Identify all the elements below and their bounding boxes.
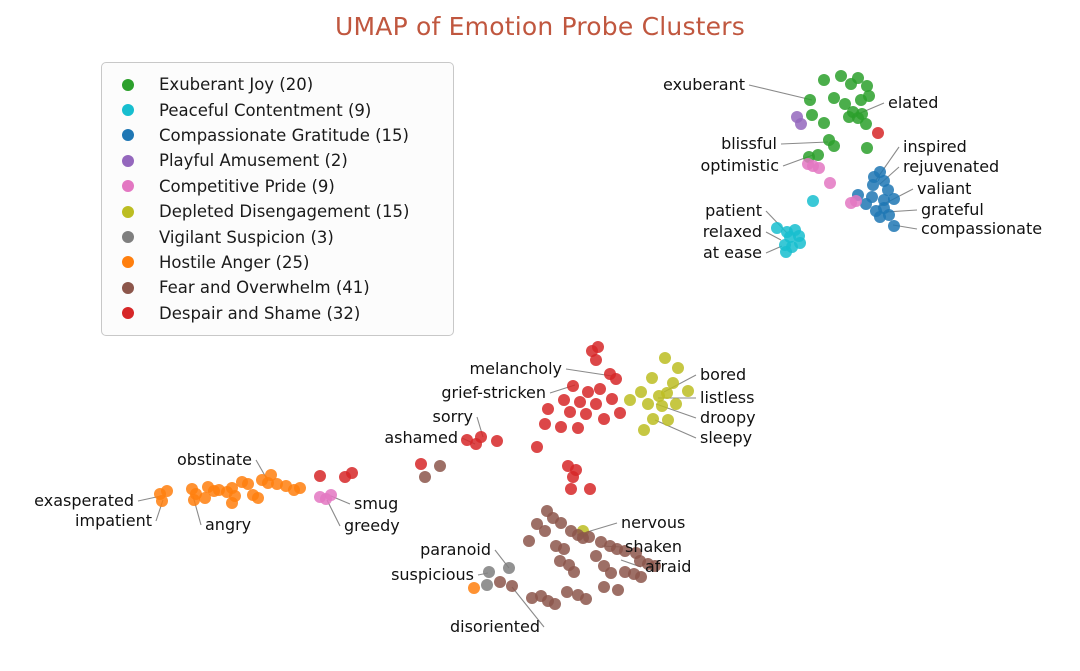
legend-item[interactable]: Compassionate Gratitude (15): [116, 123, 441, 148]
point-annotation-label: exuberant: [663, 77, 745, 93]
scatter-point[interactable]: [567, 380, 579, 392]
scatter-point[interactable]: [419, 471, 431, 483]
scatter-point[interactable]: [346, 467, 358, 479]
scatter-point[interactable]: [812, 149, 824, 161]
scatter-point[interactable]: [558, 394, 570, 406]
legend-swatch-icon: [122, 307, 134, 319]
scatter-point[interactable]: [824, 177, 836, 189]
point-annotation-label: melancholy: [470, 361, 562, 377]
legend-item-label: Despair and Shame (32): [159, 304, 360, 323]
scatter-point[interactable]: [850, 195, 862, 207]
legend-item[interactable]: Fear and Overwhelm (41): [116, 275, 441, 300]
scatter-point[interactable]: [542, 403, 554, 415]
scatter-point[interactable]: [568, 566, 580, 578]
scatter-point[interactable]: [236, 476, 248, 488]
point-annotation-label: compassionate: [921, 221, 1042, 237]
legend-item[interactable]: Peaceful Contentment (9): [116, 97, 441, 122]
scatter-point[interactable]: [795, 118, 807, 130]
scatter-point[interactable]: [807, 195, 819, 207]
scatter-point[interactable]: [590, 354, 602, 366]
scatter-point[interactable]: [804, 94, 816, 106]
scatter-point[interactable]: [523, 535, 535, 547]
legend-swatch-icon: [122, 79, 134, 91]
point-annotation-label: paranoid: [420, 542, 491, 558]
point-annotation-label: grief-stricken: [441, 385, 546, 401]
scatter-point[interactable]: [828, 140, 840, 152]
scatter-point[interactable]: [565, 483, 577, 495]
scatter-point[interactable]: [265, 469, 277, 481]
scatter-point[interactable]: [638, 424, 650, 436]
scatter-point[interactable]: [863, 90, 875, 102]
scatter-point[interactable]: [780, 246, 792, 258]
point-annotation-label: elated: [888, 95, 938, 111]
legend: Exuberant Joy (20)Peaceful Contentment (…: [101, 62, 454, 336]
legend-item[interactable]: Depleted Disengagement (15): [116, 199, 441, 224]
legend-item[interactable]: Hostile Anger (25): [116, 250, 441, 275]
scatter-point[interactable]: [252, 492, 264, 504]
scatter-point[interactable]: [818, 117, 830, 129]
legend-item[interactable]: Playful Amusement (2): [116, 148, 441, 173]
scatter-point[interactable]: [555, 517, 567, 529]
scatter-point[interactable]: [828, 92, 840, 104]
scatter-point[interactable]: [506, 580, 518, 592]
cluster-peaceful-contentment: [771, 195, 819, 258]
cluster-playful-amusement: [791, 111, 807, 130]
scatter-point[interactable]: [818, 74, 830, 86]
annotation-leader-line: [781, 142, 828, 144]
legend-item-label: Hostile Anger (25): [159, 253, 309, 272]
scatter-point[interactable]: [867, 179, 879, 191]
scatter-point[interactable]: [883, 209, 895, 221]
point-annotation-label: smug: [354, 496, 398, 512]
scatter-point[interactable]: [549, 598, 561, 610]
cluster-fear-and-overwhelm: [419, 460, 661, 610]
point-annotation-label: sorry: [433, 409, 473, 425]
legend-item-label: Peaceful Contentment (9): [159, 101, 371, 120]
scatter-point[interactable]: [598, 413, 610, 425]
scatter-point[interactable]: [872, 127, 884, 139]
point-annotation-label: greedy: [344, 518, 400, 534]
scatter-point[interactable]: [662, 414, 674, 426]
cluster-exuberant-joy: [803, 70, 875, 163]
scatter-point[interactable]: [226, 497, 238, 509]
legend-item-label: Competitive Pride (9): [159, 177, 335, 196]
point-annotation-label: nervous: [621, 515, 685, 531]
legend-item[interactable]: Despair and Shame (32): [116, 301, 441, 326]
point-annotation-label: suspicious: [391, 567, 474, 583]
point-annotation-label: angry: [205, 517, 251, 533]
scatter-point[interactable]: [325, 489, 337, 501]
scatter-point[interactable]: [656, 400, 668, 412]
scatter-point[interactable]: [555, 421, 567, 433]
cluster-depleted-disengagement: [577, 352, 694, 537]
scatter-point[interactable]: [624, 394, 636, 406]
scatter-point[interactable]: [564, 406, 576, 418]
scatter-point[interactable]: [583, 531, 595, 543]
scatter-point[interactable]: [852, 72, 864, 84]
scatter-point[interactable]: [610, 373, 622, 385]
scatter-point[interactable]: [861, 80, 873, 92]
legend-swatch-icon: [122, 180, 134, 192]
scatter-point[interactable]: [670, 398, 682, 410]
point-annotation-label: rejuvenated: [903, 159, 999, 175]
point-annotation-label: blissful: [721, 136, 777, 152]
point-annotation-label: valiant: [917, 181, 971, 197]
point-annotation-label: grateful: [921, 202, 984, 218]
scatter-point[interactable]: [481, 579, 493, 591]
scatter-point[interactable]: [584, 483, 596, 495]
scatter-point[interactable]: [574, 396, 586, 408]
scatter-point[interactable]: [199, 492, 211, 504]
scatter-point[interactable]: [156, 495, 168, 507]
scatter-point[interactable]: [491, 435, 503, 447]
scatter-point[interactable]: [614, 407, 626, 419]
scatter-point[interactable]: [580, 593, 592, 605]
scatter-point[interactable]: [882, 184, 894, 196]
legend-item-label: Compassionate Gratitude (15): [159, 126, 409, 145]
point-annotation-label: bored: [700, 367, 746, 383]
scatter-point[interactable]: [590, 398, 602, 410]
scatter-point[interactable]: [483, 566, 495, 578]
scatter-point[interactable]: [806, 109, 818, 121]
legend-item-label: Fear and Overwhelm (41): [159, 278, 370, 297]
scatter-point[interactable]: [794, 237, 806, 249]
scatter-point[interactable]: [590, 550, 602, 562]
scatter-point[interactable]: [860, 118, 872, 130]
scatter-point[interactable]: [667, 377, 679, 389]
legend-item[interactable]: Vigilant Suspicion (3): [116, 224, 441, 249]
scatter-point[interactable]: [646, 372, 658, 384]
scatter-point[interactable]: [434, 460, 446, 472]
scatter-point[interactable]: [294, 482, 306, 494]
scatter-point[interactable]: [188, 494, 200, 506]
scatter-point[interactable]: [494, 576, 506, 588]
legend-item-label: Exuberant Joy (20): [159, 75, 313, 94]
scatter-point[interactable]: [661, 387, 673, 399]
legend-swatch-icon: [122, 231, 134, 243]
scatter-point[interactable]: [561, 586, 573, 598]
annotation-leader-line: [749, 85, 812, 100]
point-annotation-label: inspired: [903, 139, 967, 155]
legend-swatch-icon: [122, 206, 134, 218]
point-annotation-label: droopy: [700, 410, 756, 426]
legend-swatch-icon: [122, 129, 134, 141]
scatter-point[interactable]: [580, 408, 592, 420]
scatter-point[interactable]: [813, 162, 825, 174]
scatter-point[interactable]: [672, 362, 684, 374]
scatter-point[interactable]: [572, 422, 584, 434]
point-annotation-label: shaken: [625, 539, 682, 555]
legend-item-label: Depleted Disengagement (15): [159, 202, 409, 221]
umap-scatter-plot-page: UMAP of Emotion Probe Clusters exuberant…: [0, 0, 1080, 671]
legend-item[interactable]: Exuberant Joy (20): [116, 72, 441, 97]
scatter-point[interactable]: [635, 386, 647, 398]
point-annotation-label: afraid: [645, 559, 691, 575]
scatter-point[interactable]: [861, 142, 873, 154]
point-annotation-label: optimistic: [700, 158, 779, 174]
scatter-point[interactable]: [605, 567, 617, 579]
legend-swatch-icon: [122, 104, 134, 116]
scatter-point[interactable]: [539, 418, 551, 430]
scatter-point[interactable]: [594, 383, 606, 395]
point-annotation-label: relaxed: [703, 224, 762, 240]
point-annotation-label: impatient: [75, 513, 152, 529]
point-annotation-label: ashamed: [384, 430, 458, 446]
scatter-point[interactable]: [642, 398, 654, 410]
scatter-point[interactable]: [475, 431, 487, 443]
legend-swatch-icon: [122, 155, 134, 167]
scatter-point[interactable]: [612, 584, 624, 596]
scatter-point[interactable]: [598, 581, 610, 593]
scatter-point[interactable]: [539, 525, 551, 537]
scatter-point[interactable]: [415, 458, 427, 470]
legend-item[interactable]: Competitive Pride (9): [116, 174, 441, 199]
point-annotation-label: listless: [700, 390, 754, 406]
legend-item-label: Vigilant Suspicion (3): [159, 228, 334, 247]
scatter-point[interactable]: [835, 70, 847, 82]
annotation-leader-line: [655, 420, 696, 438]
scatter-point[interactable]: [888, 220, 900, 232]
point-annotation-label: disoriented: [450, 619, 540, 635]
legend-swatch-icon: [122, 256, 134, 268]
legend-swatch-icon: [122, 282, 134, 294]
point-annotation-label: exasperated: [34, 493, 134, 509]
scatter-point[interactable]: [682, 385, 694, 397]
scatter-point[interactable]: [592, 341, 604, 353]
scatter-point[interactable]: [314, 470, 326, 482]
point-annotation-label: sleepy: [700, 430, 752, 446]
scatter-point[interactable]: [647, 413, 659, 425]
scatter-point[interactable]: [582, 386, 594, 398]
scatter-point[interactable]: [606, 393, 618, 405]
scatter-point[interactable]: [659, 352, 671, 364]
scatter-point[interactable]: [558, 543, 570, 555]
point-annotation-label: patient: [705, 203, 762, 219]
legend-item-label: Playful Amusement (2): [159, 151, 348, 170]
point-annotation-label: obstinate: [177, 452, 252, 468]
scatter-point[interactable]: [503, 562, 515, 574]
point-annotation-label: at ease: [703, 245, 762, 261]
scatter-point[interactable]: [567, 471, 579, 483]
scatter-point[interactable]: [531, 441, 543, 453]
